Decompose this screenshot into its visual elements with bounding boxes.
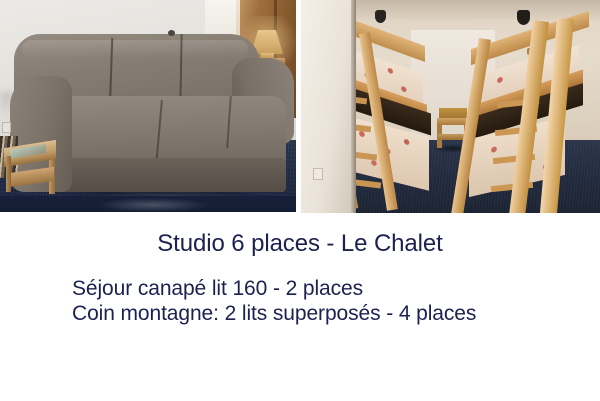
coffee-table-leg-left [6, 156, 11, 192]
wall-outlet [2, 122, 11, 133]
carpet-foreground-highlight [98, 198, 208, 212]
detail-line-bunk-beds: Coin montagne: 2 lits superposés - 4 pla… [72, 301, 476, 326]
listing-details: Séjour canapé lit 160 - 2 places Coin mo… [72, 276, 476, 326]
sofa-backrest-highlight [22, 40, 248, 58]
sofa-release-knob [168, 30, 175, 36]
caption-block: Studio 6 places - Le Chalet Séjour canap… [0, 214, 600, 401]
wall-light-right [517, 10, 530, 25]
detail-line-sleeping-sofa: Séjour canapé lit 160 - 2 places [72, 276, 476, 301]
door-frame-edge [351, 0, 356, 213]
door-frame [301, 0, 355, 213]
photo-living-room-sofa-bed[interactable] [0, 0, 296, 212]
stool-top [437, 118, 469, 125]
alcove-wall-outlet [313, 168, 323, 180]
wall-light-left [375, 10, 386, 23]
sofa-base-skirt [48, 158, 286, 192]
photo-strip [0, 0, 600, 214]
photo-bunk-bed-alcove[interactable] [301, 0, 600, 213]
listing-title: Studio 6 places - Le Chalet [0, 230, 600, 258]
accommodation-listing-card: Studio 6 places - Le Chalet Séjour canap… [0, 0, 600, 401]
